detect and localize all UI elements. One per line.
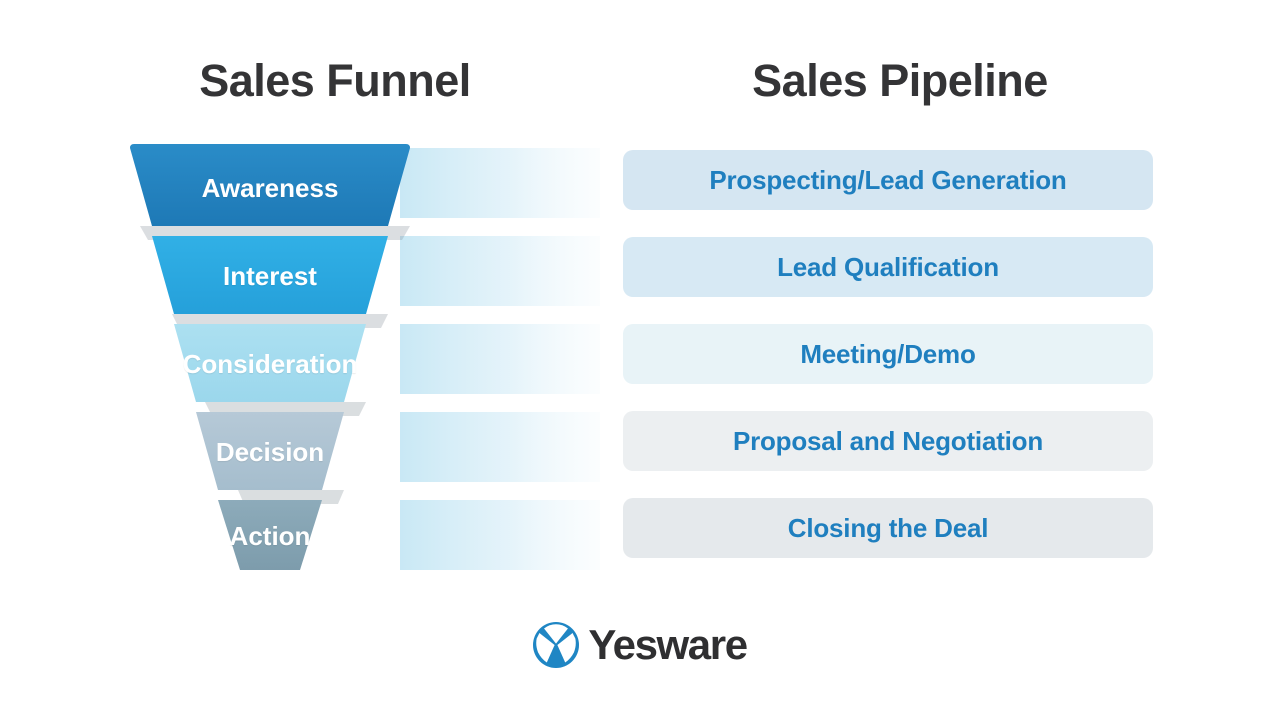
pipeline-row-proposal-negotiation[interactable]: Proposal and Negotiation	[623, 411, 1153, 471]
pipeline-column-title: Sales Pipeline	[620, 55, 1180, 107]
pipeline-row-closing-deal[interactable]: Closing the Deal	[623, 498, 1153, 558]
infographic-canvas: Sales Funnel Sales Pipeline	[0, 0, 1280, 726]
pipeline-row-meeting-demo[interactable]: Meeting/Demo	[623, 324, 1153, 384]
pipeline-label-closing-deal: Closing the Deal	[788, 513, 989, 544]
pipeline-label-prospecting: Prospecting/Lead Generation	[709, 165, 1066, 196]
brand-name: Yesware	[588, 624, 746, 666]
pipeline-row-lead-qualification[interactable]: Lead Qualification	[623, 237, 1153, 297]
sales-funnel-graphic: Awareness Interest Consideration Decisio…	[0, 140, 600, 580]
funnel-label-interest: Interest	[174, 261, 366, 292]
funnel-label-decision: Decision	[196, 437, 344, 468]
funnel-label-consideration: Consideration	[160, 349, 380, 380]
pipeline-label-lead-qualification: Lead Qualification	[777, 252, 999, 283]
pipeline-label-meeting-demo: Meeting/Demo	[800, 339, 975, 370]
yesware-logo-icon	[533, 622, 579, 668]
brand-logo[interactable]: Yesware	[0, 622, 1280, 668]
pipeline-row-prospecting[interactable]: Prospecting/Lead Generation	[623, 150, 1153, 210]
pipeline-label-proposal-negotiation: Proposal and Negotiation	[733, 426, 1043, 457]
funnel-glow-bands	[400, 148, 600, 570]
funnel-column-title: Sales Funnel	[0, 55, 670, 107]
funnel-label-awareness: Awareness	[152, 173, 388, 204]
funnel-label-action: Action	[218, 521, 322, 552]
sales-pipeline-list: Prospecting/Lead Generation Lead Qualifi…	[623, 150, 1153, 585]
